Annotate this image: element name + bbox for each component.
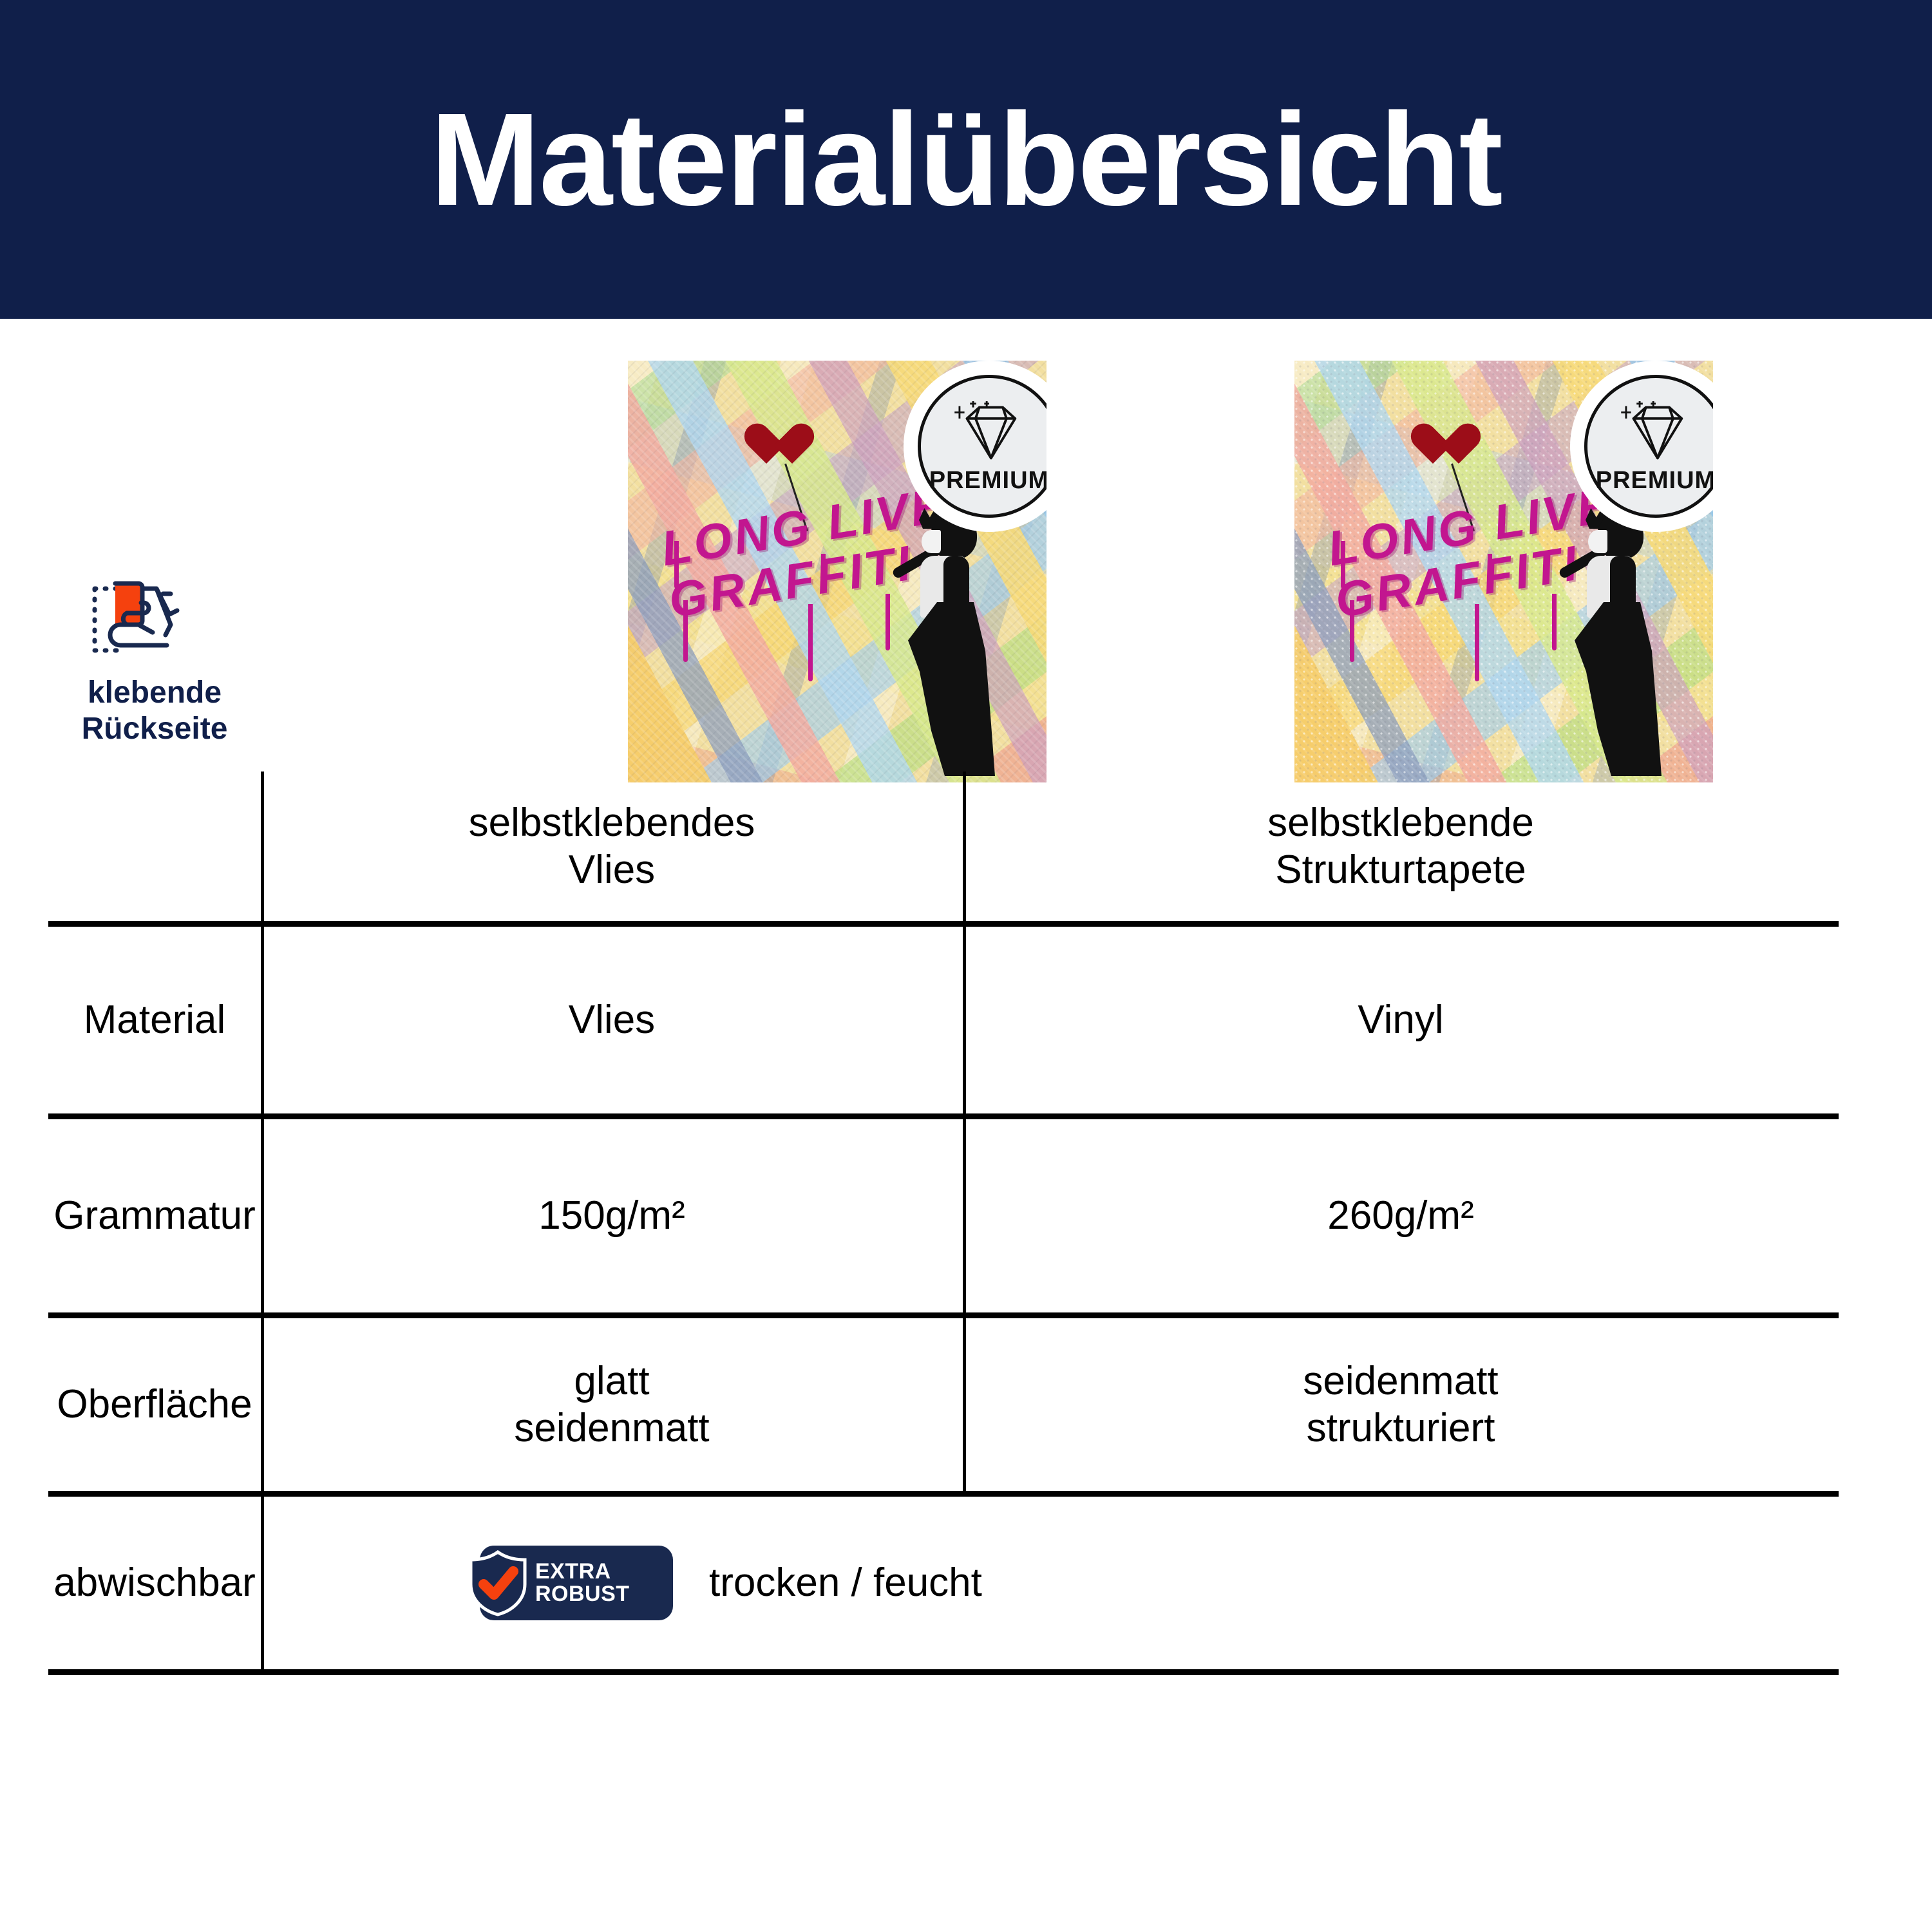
- row-divider: [48, 921, 1839, 927]
- column-divider-2: [963, 772, 966, 921]
- premium-badge-label: PREMIUM: [929, 467, 1046, 495]
- column-divider-1: [261, 1318, 264, 1491]
- wipeable-value: trocken / feucht: [709, 1559, 982, 1606]
- table-row-grammatur: Grammatur 150g/m² 260g/m²: [48, 1119, 1839, 1312]
- paint-drip: [1475, 604, 1479, 681]
- girl-silhouette: [867, 506, 1016, 782]
- heart-balloon-icon: [747, 425, 792, 468]
- table-row-abwischbar: abwischbar EXTRA ROBUST trocken / feucht: [48, 1497, 1839, 1669]
- diamond-icon: [1618, 401, 1694, 463]
- girl-silhouette: [1534, 506, 1682, 782]
- table-cell-value: Vinyl: [963, 927, 1839, 1113]
- table-header-row: selbstklebendes Vlies selbstklebende Str…: [48, 772, 1839, 921]
- paint-drip: [674, 541, 679, 589]
- column-divider-1: [261, 772, 264, 921]
- material-overview-page: Materialübersicht LONG LIVE GRAFFITI: [0, 0, 1932, 1932]
- paint-drip: [821, 554, 826, 587]
- row-divider: [48, 1491, 1839, 1497]
- row-divider: [48, 1312, 1839, 1318]
- extra-robust-label: EXTRA ROBUST: [535, 1560, 630, 1605]
- paint-drip: [1350, 600, 1354, 662]
- diamond-icon: [951, 401, 1027, 463]
- table-bottom-divider: [48, 1669, 1839, 1675]
- paint-drip: [683, 600, 688, 662]
- heart-balloon-icon: [1414, 425, 1459, 468]
- page-title: Materialübersicht: [430, 93, 1501, 225]
- page-header: Materialübersicht: [0, 0, 1932, 319]
- column-divider-2: [963, 1318, 966, 1491]
- product-preview-strukturtapete[interactable]: LONG LIVE GRAFFITI: [1294, 361, 1713, 782]
- row-divider: [48, 1113, 1839, 1119]
- table-row-material: Material Vlies Vinyl: [48, 927, 1839, 1113]
- material-comparison-table: klebende Rückseite selbstklebendes Vlies…: [48, 772, 1839, 1675]
- adhesive-backing-block: klebende Rückseite: [48, 580, 261, 746]
- table-row-label: Oberfläche: [48, 1318, 261, 1491]
- column-divider-2: [963, 1119, 966, 1312]
- table-row-label: Material: [48, 927, 261, 1113]
- table-cell-value: seidenmatt strukturiert: [963, 1318, 1839, 1491]
- paint-drip: [808, 604, 813, 681]
- premium-badge-label: PREMIUM: [1596, 467, 1713, 495]
- table-header-cell-vlies: selbstklebendes Vlies: [261, 772, 963, 921]
- table-cell-wipeable: EXTRA ROBUST trocken / feucht: [261, 1497, 1839, 1669]
- table-header-cell-strukturtapete: selbstklebende Strukturtapete: [963, 772, 1839, 921]
- table-cell-value: 260g/m²: [963, 1119, 1839, 1312]
- product-preview-vlies[interactable]: LONG LIVE GRAFFITI: [628, 361, 1046, 782]
- table-cell-value: glatt seidenmatt: [261, 1318, 963, 1491]
- column-divider-1: [261, 1497, 264, 1669]
- shield-check-icon: [467, 1549, 529, 1616]
- extra-robust-badge: EXTRA ROBUST: [480, 1546, 673, 1620]
- table-cell-empty: [48, 772, 261, 921]
- adhesive-backing-label: klebende Rückseite: [82, 675, 228, 746]
- table-row-label: abwischbar: [48, 1497, 261, 1669]
- column-divider-2: [963, 927, 966, 1113]
- table-row-oberflaeche: Oberfläche glatt seidenmatt seidenmatt s…: [48, 1318, 1839, 1491]
- column-divider-1: [261, 927, 264, 1113]
- table-cell-value: 150g/m²: [261, 1119, 963, 1312]
- table-cell-value: Vlies: [261, 927, 963, 1113]
- paint-drip: [1488, 554, 1492, 587]
- adhesive-backing-icon: [87, 580, 222, 663]
- table-row-label: Grammatur: [48, 1119, 261, 1312]
- paint-drip: [1341, 541, 1345, 589]
- column-divider-1: [261, 1119, 264, 1312]
